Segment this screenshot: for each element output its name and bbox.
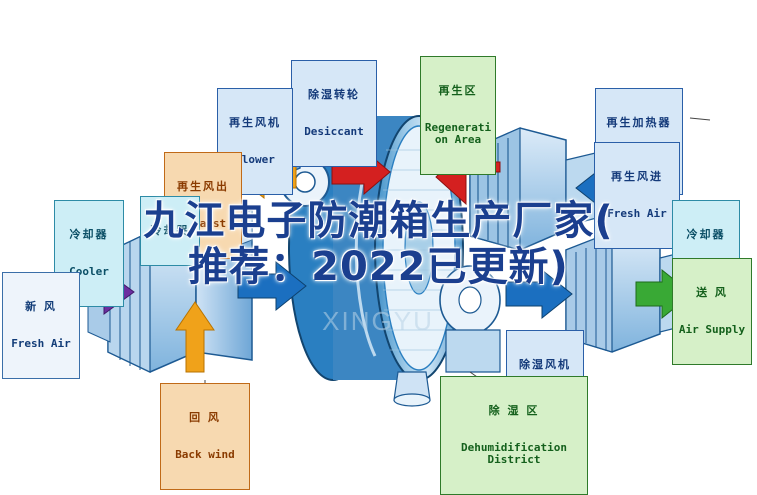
label-dehumidify-blower-cn: 除湿风机 bbox=[509, 359, 581, 371]
label-regeneration-area-en: Regenerati on Area bbox=[423, 122, 493, 147]
label-back-wind-en: Back wind bbox=[163, 449, 247, 461]
label-desiccant-rotor: 除湿转轮 Desiccant bbox=[291, 60, 377, 167]
label-dehumidification-district: 除 湿 区 Dehumidification District bbox=[440, 376, 588, 495]
watermark-text: XINGYU bbox=[322, 306, 434, 336]
label-regeneration-exhaust-cn: 再生风出 bbox=[167, 181, 239, 193]
label-desiccant-rotor-cn: 除湿转轮 bbox=[294, 89, 374, 101]
label-back-wind: 回 风 Back wind bbox=[160, 383, 250, 490]
overlay-title: 九江电子防潮箱生产厂家( 推荐：2022已更新) bbox=[0, 198, 757, 290]
label-regeneration-fresh-air-cn: 再生风进 bbox=[597, 171, 677, 183]
label-fresh-air-en: Fresh Air bbox=[5, 338, 77, 350]
label-regeneration-heater-cn: 再生加热器 bbox=[598, 117, 680, 129]
label-dehumidification-district-en: Dehumidification District bbox=[443, 442, 585, 467]
label-air-supply-en: Air Supply bbox=[675, 324, 749, 336]
overlay-title-line1: 九江电子防潮箱生产厂家( bbox=[0, 198, 757, 244]
label-fresh-air-cn: 新 风 bbox=[5, 301, 77, 313]
overlay-title-line2: 推荐：2022已更新) bbox=[0, 244, 757, 290]
label-regeneration-area: 再生区 Regenerati on Area bbox=[420, 56, 496, 175]
label-dehumidification-district-cn: 除 湿 区 bbox=[443, 405, 585, 417]
label-back-wind-cn: 回 风 bbox=[163, 412, 247, 424]
label-regeneration-area-cn: 再生区 bbox=[423, 85, 493, 97]
label-regeneration-blower-cn: 再生风机 bbox=[220, 117, 290, 129]
diagram-canvas: XINGYU 除湿转轮 Desiccant 再生风机 Blower 再生区 Re… bbox=[0, 0, 757, 488]
label-desiccant-rotor-en: Desiccant bbox=[294, 126, 374, 138]
